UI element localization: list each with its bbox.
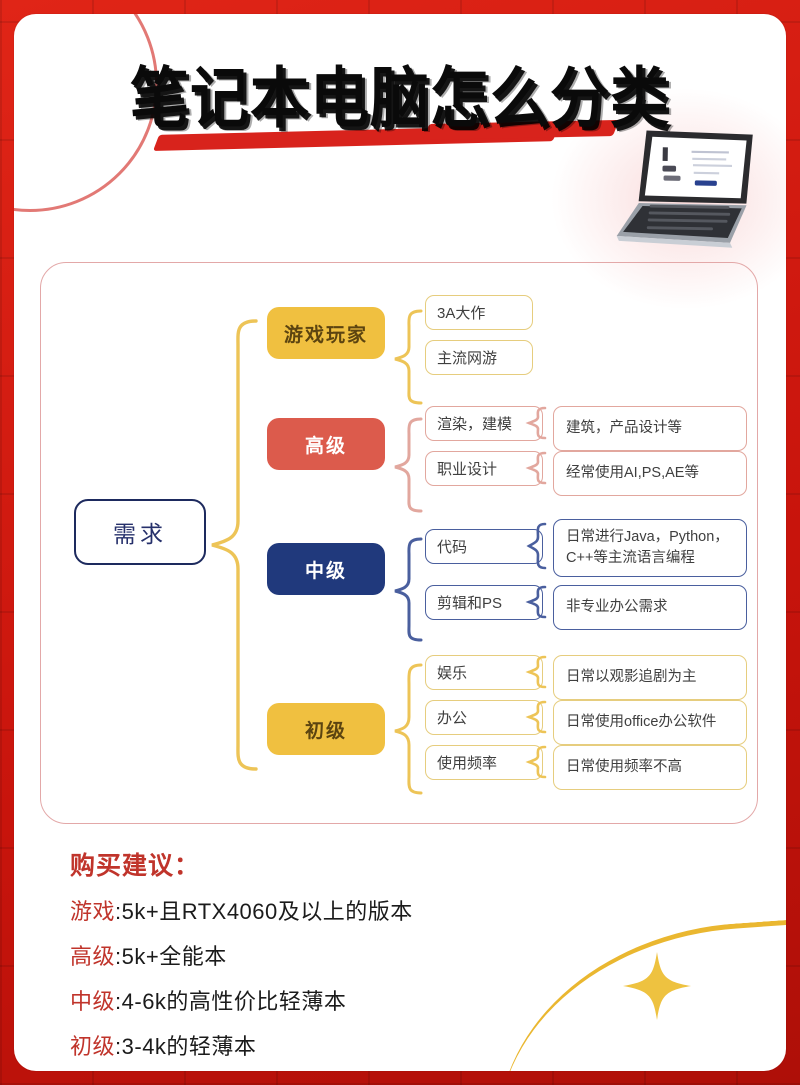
brace-intermediate — [391, 535, 425, 645]
advice-key-basic: 初级 — [70, 1034, 115, 1059]
detail-basic-1[interactable]: 日常以观影追剧为主 — [553, 655, 747, 700]
mindmap-panel: 需求 游戏玩家 3A大作 主流网游 — [40, 262, 758, 824]
leaf-game-2[interactable]: 主流网游 — [425, 340, 533, 375]
detail-intermediate-1-label: 日常进行Java，Python，C++等主流语言编程 — [566, 527, 734, 569]
advice-key-advanced: 高级 — [70, 944, 115, 969]
detail-advanced-2-label: 经常使用AI,PS,AE等 — [566, 463, 699, 484]
brace-basic — [391, 661, 425, 799]
detail-basic-3[interactable]: 日常使用频率不高 — [553, 745, 747, 790]
detail-intermediate-2-label: 非专业办公需求 — [566, 597, 668, 618]
mindmap-root-label: 需求 — [113, 515, 167, 549]
page-title: 笔记本电脑怎么分类 — [130, 45, 670, 140]
detail-basic-2[interactable]: 日常使用office办公软件 — [553, 700, 747, 745]
advice-row-intermediate: 中级:4-6k的高性价比轻薄本 — [70, 984, 710, 1016]
leaf-advanced-1-label: 渲染，建模 — [437, 413, 512, 434]
brace-game — [391, 307, 425, 407]
detail-basic-1-label: 日常以观影追剧为主 — [566, 667, 697, 688]
advice-value-advanced: :5k+全能本 — [115, 944, 227, 969]
advice-row-game: 游戏:5k+且RTX4060及以上的版本 — [70, 894, 710, 926]
leaf-basic-1-label: 娱乐 — [437, 662, 467, 683]
detail-intermediate-1[interactable]: 日常进行Java，Python，C++等主流语言编程 — [553, 519, 747, 577]
advice-value-intermediate: :4-6k的高性价比轻薄本 — [115, 989, 346, 1014]
brace-basic-detail-3 — [525, 744, 549, 780]
leaf-basic-3-label: 使用频率 — [437, 752, 497, 773]
branch-label-intermediate: 中级 — [305, 556, 347, 583]
leaf-game-1-label: 3A大作 — [437, 302, 485, 323]
branch-node-intermediate[interactable]: 中级 — [267, 543, 385, 595]
branch-node-basic[interactable]: 初级 — [267, 703, 385, 755]
advice-key-game: 游戏 — [70, 899, 115, 924]
leaf-intermediate-1-label: 代码 — [437, 536, 467, 557]
brace-advanced-detail-2 — [525, 450, 549, 486]
advice-heading: 购买建议： — [70, 846, 710, 882]
brace-intermediate-detail-2 — [525, 584, 549, 620]
advice-key-intermediate: 中级 — [70, 989, 115, 1014]
detail-advanced-1-label: 建筑，产品设计等 — [566, 418, 682, 439]
advice-section: 购买建议： 游戏:5k+且RTX4060及以上的版本 高级:5k+全能本 中级:… — [70, 846, 710, 1071]
leaf-intermediate-2-label: 剪辑和PS — [437, 592, 502, 613]
advice-value-basic: :3-4k的轻薄本 — [115, 1034, 256, 1059]
brace-advanced — [391, 415, 425, 515]
poster-root: 笔记本电脑怎么分类 — [0, 0, 800, 1085]
detail-basic-3-label: 日常使用频率不高 — [566, 757, 682, 778]
branch-label-game: 游戏玩家 — [284, 320, 368, 347]
detail-advanced-1[interactable]: 建筑，产品设计等 — [553, 406, 747, 451]
branch-label-advanced: 高级 — [305, 431, 347, 458]
brace-basic-detail-2 — [525, 699, 549, 735]
leaf-game-1[interactable]: 3A大作 — [425, 295, 533, 330]
leaf-game-2-label: 主流网游 — [437, 347, 497, 368]
branch-node-advanced[interactable]: 高级 — [267, 418, 385, 470]
branch-label-basic: 初级 — [305, 716, 347, 743]
detail-advanced-2[interactable]: 经常使用AI,PS,AE等 — [553, 451, 747, 496]
detail-basic-2-label: 日常使用office办公软件 — [566, 712, 716, 733]
advice-value-game: :5k+且RTX4060及以上的版本 — [115, 899, 413, 924]
root-brace — [206, 315, 262, 775]
detail-intermediate-2[interactable]: 非专业办公需求 — [553, 585, 747, 630]
brace-advanced-detail-1 — [525, 405, 549, 441]
mindmap-root-node[interactable]: 需求 — [74, 499, 206, 565]
leaf-advanced-2-label: 职业设计 — [437, 458, 497, 479]
leaf-basic-2-label: 办公 — [437, 707, 467, 728]
advice-row-basic: 初级:3-4k的轻薄本 — [70, 1029, 710, 1061]
branch-node-game[interactable]: 游戏玩家 — [267, 307, 385, 359]
brace-basic-detail-1 — [525, 654, 549, 690]
white-card: 笔记本电脑怎么分类 — [14, 14, 786, 1071]
laptop-illustration — [600, 120, 770, 260]
advice-row-advanced: 高级:5k+全能本 — [70, 939, 710, 971]
brace-intermediate-detail-1 — [525, 521, 549, 571]
